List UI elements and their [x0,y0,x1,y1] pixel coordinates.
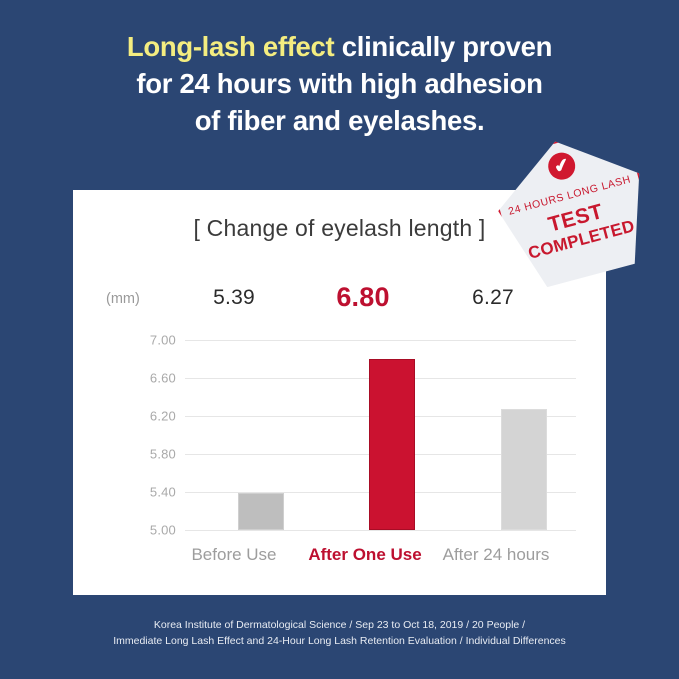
gridline: 5.00 [185,530,576,531]
y-tick-label-4: 5.40 [150,485,176,500]
bar-value-label-0: 5.39 [179,286,289,310]
footnote-line-1: Korea Institute of Dermatological Scienc… [0,617,679,633]
bar-after-one-use [369,359,415,530]
gridline: 7.00 [185,340,576,341]
footnote: Korea Institute of Dermatological Scienc… [0,617,679,649]
headline-line-1-rest: clinically proven [334,31,552,62]
category-label-before-use: Before Use [174,545,294,565]
headline-accent: Long-lash effect [127,31,335,62]
y-tick-label-5: 5.00 [150,523,176,538]
y-tick-label-2: 6.20 [150,409,176,424]
y-tick-label-0: 7.00 [150,333,176,348]
category-label-after-one-use: After One Use [305,545,425,565]
axis-unit-label: (mm) [106,291,140,307]
bar-after-24-hours [501,409,547,530]
bar-value-label-1: 6.80 [308,282,418,313]
bar-before-use [238,493,284,530]
plot-area: 7.00 6.60 6.20 5.80 5.40 5.00 [185,340,576,530]
category-label-after-24-hours: After 24 hours [436,545,556,565]
headline-line-1: Long-lash effect clinically proven [0,28,679,65]
headline-line-3: of fiber and eyelashes. [0,102,679,139]
y-tick-label-1: 6.60 [150,371,176,386]
headline: Long-lash effect clinically proven for 2… [0,28,679,139]
footnote-line-2: Immediate Long Lash Effect and 24-Hour L… [0,633,679,649]
y-tick-label-3: 5.80 [150,447,176,462]
headline-line-2: for 24 hours with high adhesion [0,65,679,102]
